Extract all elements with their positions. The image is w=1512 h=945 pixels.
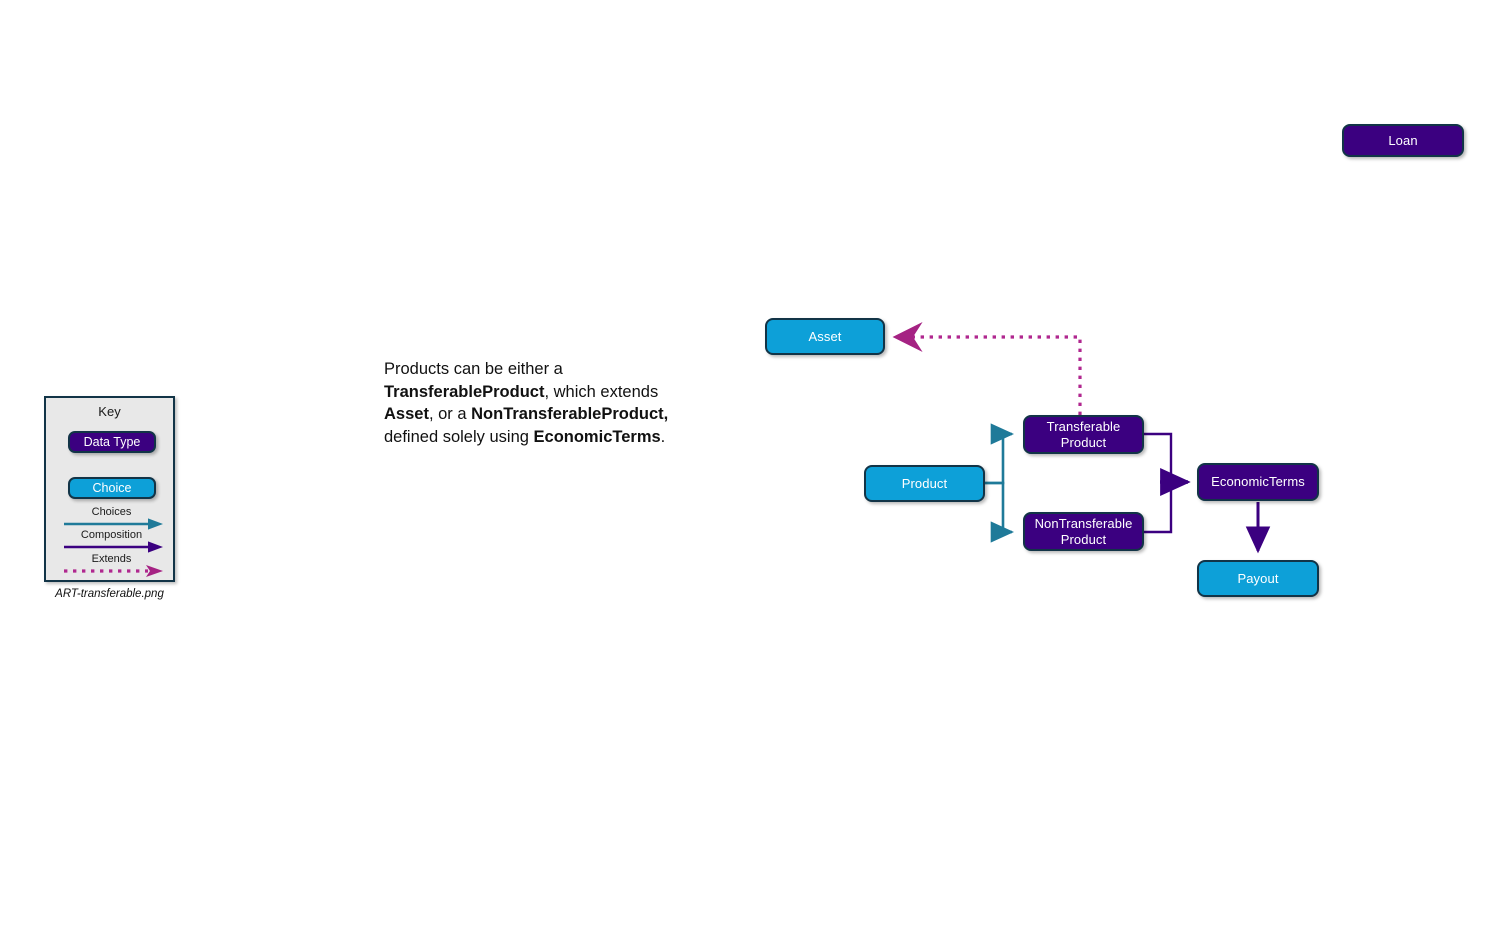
node-loan-label: Loan [1388, 133, 1417, 149]
description-economic-terms: EconomicTerms [534, 428, 661, 446]
description-or-a: , or a [429, 405, 471, 423]
description-asset: Asset [384, 405, 429, 423]
node-product-label: Product [902, 476, 948, 492]
description-nontransferable-product: NonTransferableProduct, [471, 405, 668, 423]
node-payout[interactable]: Payout [1197, 560, 1319, 597]
edge-transferable-product-to-economic-terms [1144, 434, 1171, 482]
node-payout-label: Payout [1237, 571, 1278, 587]
description-text: Products can be either a TransferablePro… [384, 358, 704, 448]
key-legend-arrow-extends [64, 564, 164, 578]
description-which-extends: , which extends [544, 383, 658, 401]
key-legend-arrow-composition [64, 540, 164, 554]
node-transferable-product[interactable]: Transferable Product [1023, 415, 1144, 454]
edge-nontransferable-product-to-economic-terms [1144, 482, 1171, 532]
edge-product-to-nontransferable-product [985, 483, 1012, 532]
node-economic-terms-label: EconomicTerms [1211, 474, 1305, 490]
edge-product-to-transferable-product [985, 434, 1012, 483]
node-transferable-product-label-line1: Transferable [1047, 419, 1121, 435]
description-line1: Products can be either a [384, 360, 563, 378]
node-product[interactable]: Product [864, 465, 985, 502]
key-caption: ART-transferable.png [44, 588, 175, 600]
node-loan[interactable]: Loan [1342, 124, 1464, 157]
node-nontransferable-product-label-line2: Product [1061, 532, 1107, 548]
key-chip-data-type: Data Type [68, 431, 156, 453]
description-period: . [661, 428, 666, 446]
node-transferable-product-label-line2: Product [1061, 435, 1107, 451]
node-asset[interactable]: Asset [765, 318, 885, 355]
key-chip-choice: Choice [68, 477, 156, 499]
key-title: Key [46, 404, 173, 419]
key-panel: Key Data Type Choice Choices Composition… [44, 396, 175, 582]
description-defined: defined solely using [384, 428, 534, 446]
description-transferable-product: TransferableProduct [384, 383, 544, 401]
node-economic-terms[interactable]: EconomicTerms [1197, 463, 1319, 501]
key-chip-choice-label: Choice [93, 481, 132, 495]
node-nontransferable-product-label-line1: NonTransferable [1035, 516, 1133, 532]
node-nontransferable-product[interactable]: NonTransferable Product [1023, 512, 1144, 551]
node-asset-label: Asset [808, 329, 841, 345]
key-chip-data-type-label: Data Type [84, 435, 141, 449]
edge-transferable-product-extends-asset [897, 337, 1080, 415]
